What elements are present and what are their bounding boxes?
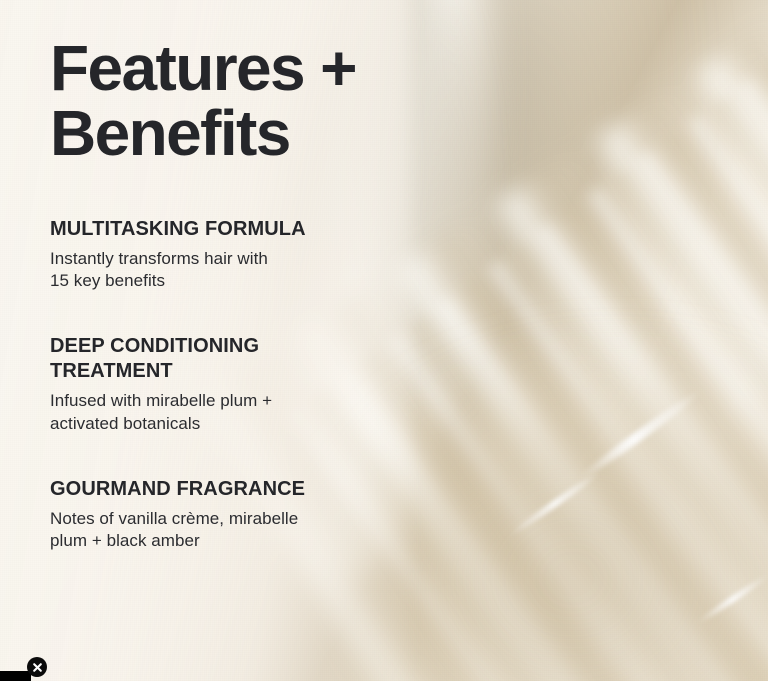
page-title: Features + Benefits	[50, 36, 450, 167]
close-x-icon	[32, 662, 43, 673]
feature-item-gourmand-fragrance: GOURMAND FRAGRANCE Notes of vanilla crèm…	[50, 477, 450, 553]
feature-description: Notes of vanilla crème, mirabelle plum +…	[50, 508, 450, 553]
feature-item-multitasking-formula: MULTITASKING FORMULA Instantly transform…	[50, 217, 450, 293]
feature-title: MULTITASKING FORMULA	[50, 217, 450, 241]
feature-description: Infused with mirabelle plum + activated …	[50, 390, 450, 435]
features-benefits-panel: Features + Benefits MULTITASKING FORMULA…	[0, 0, 768, 681]
feature-item-deep-conditioning-treatment: DEEP CONDITIONING TREATMENT Infused with…	[50, 334, 450, 434]
feature-description: Instantly transforms hair with 15 key be…	[50, 248, 450, 293]
feature-title: DEEP CONDITIONING TREATMENT	[50, 334, 450, 383]
feature-title: GOURMAND FRAGRANCE	[50, 477, 450, 501]
content-column: Features + Benefits MULTITASKING FORMULA…	[50, 36, 450, 553]
feature-list: MULTITASKING FORMULA Instantly transform…	[50, 217, 450, 553]
bottom-left-bar	[0, 671, 31, 681]
close-button[interactable]	[27, 657, 47, 677]
